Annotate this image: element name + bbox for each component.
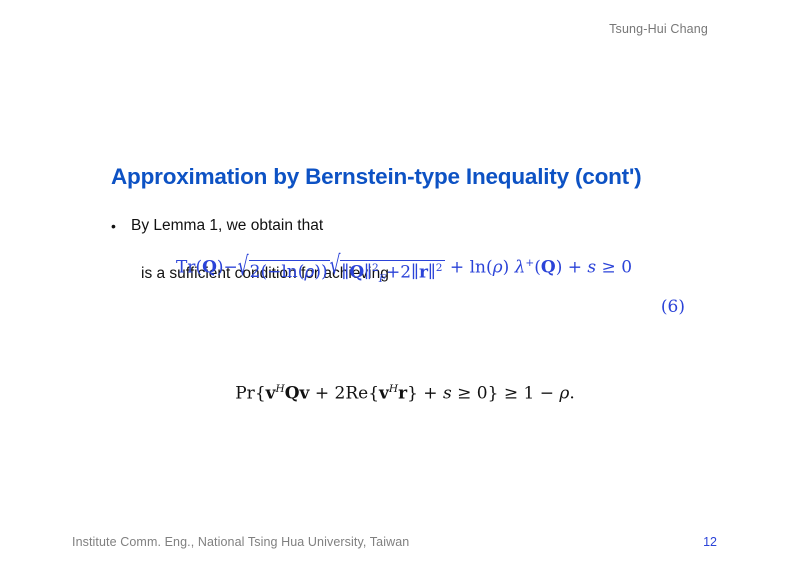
norm-bar-left: ∥ — [411, 262, 419, 282]
norm-bar-right: ∥ — [364, 262, 372, 282]
radical-icon: √ — [238, 254, 249, 288]
list-item: • By Lemma 1, we obtain that — [111, 216, 711, 236]
rho-symbol: ρ — [304, 262, 314, 282]
plus-sign: + — [309, 384, 334, 404]
paren-close: ) — [217, 258, 224, 278]
trace-operator: Tr — [176, 258, 195, 278]
probability-operator: Pr — [235, 384, 255, 404]
period: . — [569, 384, 574, 404]
geq-symbol: ≥ — [504, 384, 518, 404]
slide-canvas: Tsung-Hui Chang Approximation by Bernste… — [0, 0, 800, 565]
probability-inequality: Pr{vHQv + 2Re{vHr} + s ≥ 0} ≥ 1 − ρ. — [0, 383, 800, 404]
bullet-marker-icon: • — [111, 216, 131, 236]
equation-6-block: Tr(Q)−√2(−ln(ρ))√∥Q∥2F+2∥r∥2 + ln(ρ) λ+(… — [0, 257, 800, 285]
page-title: Approximation by Bernstein-type Inequali… — [111, 164, 641, 190]
lambda-symbol: λ — [515, 258, 526, 278]
ln-operator: ln — [470, 258, 486, 278]
paren-close-rho: ) — [314, 262, 321, 282]
slack-variable-s: s — [587, 258, 596, 278]
inner-minus: − — [267, 262, 281, 282]
geq-symbol: ≥ — [457, 384, 471, 404]
hermitian-superscript: H — [389, 383, 398, 395]
frobenius-subscript: F — [379, 273, 386, 285]
sqrt-first: √2(−ln(ρ)) — [238, 260, 330, 282]
paren-open: ( — [534, 258, 541, 278]
coefficient-two: 2 — [400, 262, 411, 282]
vector-v: v — [379, 384, 389, 404]
footer-institution: Institute Comm. Eng., National Tsing Hua… — [72, 535, 409, 549]
ln-operator: ln — [281, 262, 297, 282]
zero-value: 0 — [621, 258, 632, 278]
plus-sign: + — [445, 258, 470, 278]
real-part-operator: Re — [345, 384, 368, 404]
brace-close: } — [407, 384, 418, 404]
plus-sign: + — [418, 384, 443, 404]
brace-open: { — [368, 384, 379, 404]
radical-icon: √ — [330, 254, 341, 293]
minus-sign: − — [534, 384, 559, 404]
slack-variable-s: s — [443, 384, 452, 404]
equation-6-formula: Tr(Q)−√2(−ln(ρ))√∥Q∥2F+2∥r∥2 + ln(ρ) λ+(… — [0, 257, 800, 285]
equation-number: (6) — [0, 297, 800, 317]
rho-symbol: ρ — [493, 258, 503, 278]
vector-v: v — [266, 384, 276, 404]
vector-r: r — [398, 384, 407, 404]
vector-r: r — [419, 262, 428, 282]
minus-sign: − — [224, 258, 238, 278]
matrix-Q: Q — [349, 262, 364, 282]
plus-sign: + — [386, 262, 400, 282]
lambda-plus-superscript: + — [525, 257, 534, 269]
brace-open: { — [255, 384, 266, 404]
geq-symbol: ≥ — [602, 258, 616, 278]
plus-sign: + — [562, 258, 587, 278]
zero-value: 0 — [477, 384, 488, 404]
norm-bar-right: ∥ — [428, 262, 436, 282]
hermitian-superscript: H — [276, 383, 285, 395]
rho-symbol: ρ — [559, 384, 569, 404]
author-header: Tsung-Hui Chang — [609, 22, 708, 36]
sqrt-second-radicand: ∥Q∥2F+2∥r∥2 — [340, 260, 444, 285]
bullet-text: By Lemma 1, we obtain that — [131, 216, 323, 236]
one-value: 1 — [523, 384, 534, 404]
sqrt-first-radicand: 2(−ln(ρ)) — [249, 260, 330, 282]
norm-exponent-2: 2 — [372, 262, 379, 274]
brace-close: } — [488, 384, 499, 404]
vector-v: v — [300, 384, 310, 404]
paren-close-two: ) — [321, 262, 328, 282]
paren-open: ( — [486, 258, 493, 278]
coefficient-two: 2 — [334, 384, 345, 404]
two-paren-open: 2( — [250, 262, 267, 282]
matrix-Q: Q — [202, 258, 217, 278]
norm-exponent-2: 2 — [436, 262, 443, 274]
matrix-Q: Q — [285, 384, 300, 404]
footer-page-number: 12 — [703, 535, 717, 549]
matrix-Q: Q — [541, 258, 556, 278]
sqrt-second: √∥Q∥2F+2∥r∥2 — [330, 260, 445, 285]
